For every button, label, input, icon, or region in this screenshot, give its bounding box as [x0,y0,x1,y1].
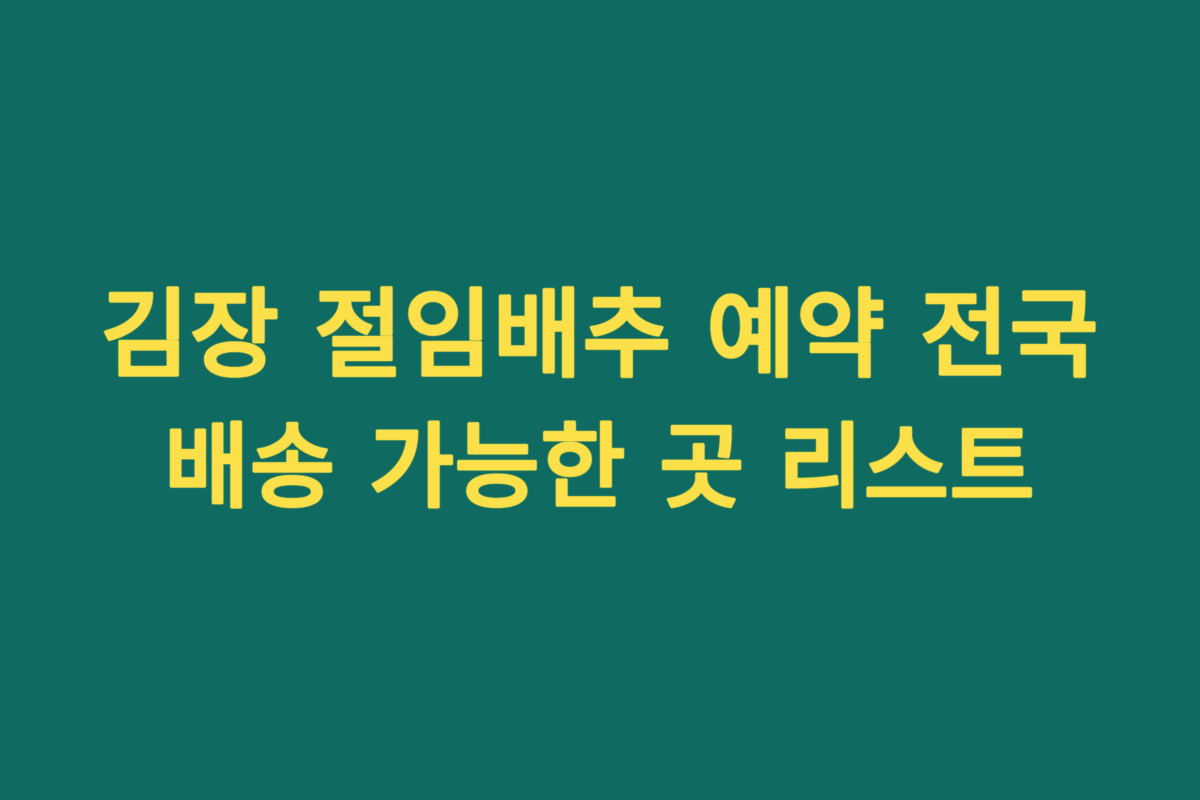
page-title: 김장 절임배추 예약 전국 배송 가능한 곳 리스트 [0,267,1200,534]
banner-canvas: 김장 절임배추 예약 전국 배송 가능한 곳 리스트 [0,0,1200,800]
title-line-2: 배송 가능한 곳 리스트 [0,403,1200,534]
title-line-1: 김장 절임배추 예약 전국 [0,267,1200,403]
